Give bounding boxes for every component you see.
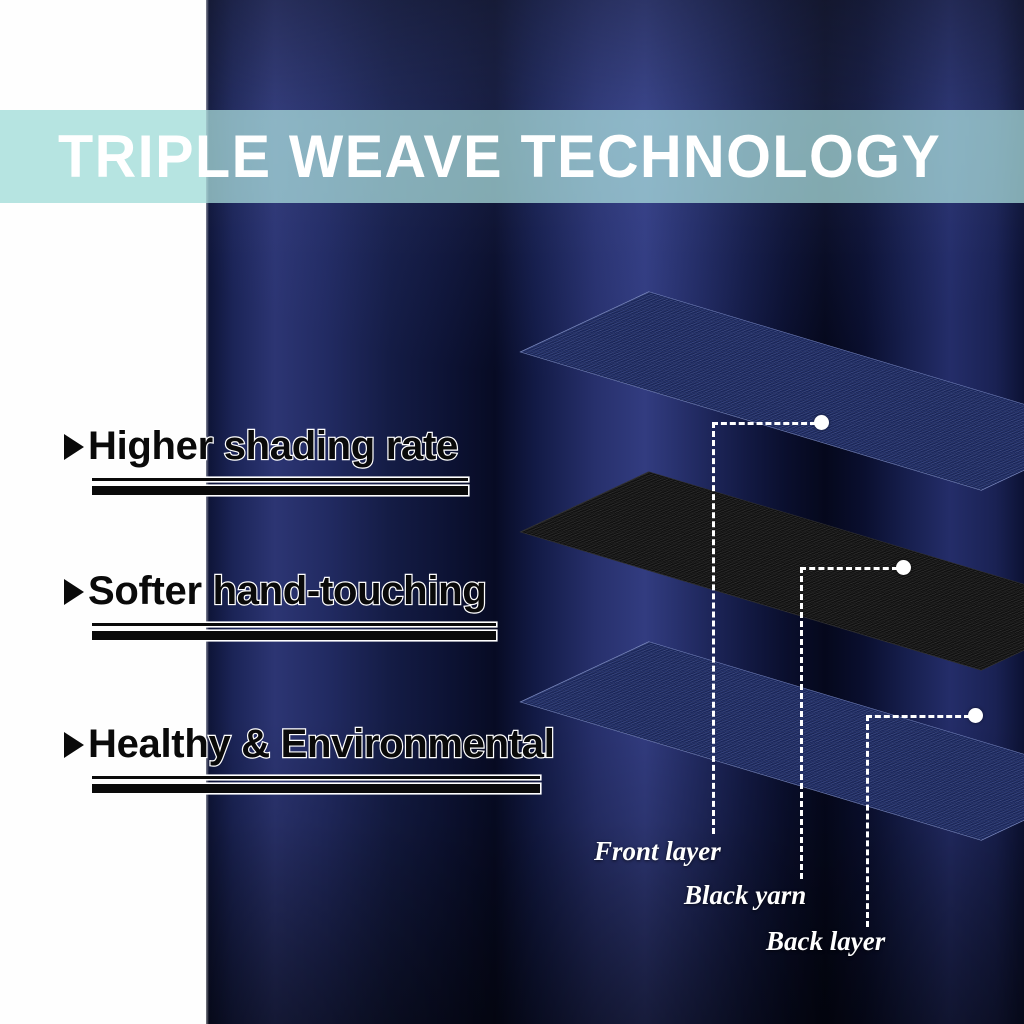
callout-dot-black-yarn <box>896 560 911 575</box>
layer-label-front: Front layer <box>594 836 721 867</box>
feature-3-label: Healthy & Environmental <box>88 722 555 767</box>
weave-texture <box>521 292 1024 490</box>
callout-dot-back-layer <box>968 708 983 723</box>
callout-line-black-yarn-vertical <box>800 567 803 879</box>
callout-line-back-layer-horizontal <box>866 715 970 718</box>
triangle-right-icon <box>64 434 84 460</box>
feature-3-rule-thick <box>92 784 540 793</box>
feature-1-row: Higher shading rate <box>64 424 468 469</box>
layer-label-black-yarn: Black yarn <box>684 880 806 911</box>
feature-2-underline <box>92 623 496 640</box>
feature-item-1: Higher shading rate <box>64 424 468 495</box>
triangle-right-icon <box>64 732 84 758</box>
feature-2-label: Softer hand-touching <box>88 569 486 614</box>
layer-label-back: Back layer <box>766 926 885 957</box>
product-infographic: TRIPLE WEAVE TECHNOLOGY Higher shading r… <box>0 0 1024 1024</box>
fabric-sheet-back-layer <box>519 641 1024 840</box>
feature-2-rule-thick <box>92 631 496 640</box>
callout-line-front-layer-horizontal <box>712 422 816 425</box>
feature-3-row: Healthy & Environmental <box>64 722 555 767</box>
fabric-layer-diagram <box>560 280 1024 880</box>
weave-texture <box>521 642 1024 840</box>
feature-2-row: Softer hand-touching <box>64 569 496 614</box>
callout-line-front-layer-vertical <box>712 422 715 834</box>
feature-1-label: Higher shading rate <box>88 424 458 469</box>
feature-1-rule-thick <box>92 486 468 495</box>
feature-1-underline <box>92 478 468 495</box>
triangle-right-icon <box>64 579 84 605</box>
fabric-sheet-front-layer <box>519 291 1024 490</box>
callout-line-back-layer-vertical <box>866 715 869 927</box>
feature-3-rule-thin <box>92 776 540 779</box>
fabric-sheet-black-yarn <box>519 471 1024 670</box>
banner-title: TRIPLE WEAVE TECHNOLOGY <box>58 110 970 203</box>
callout-line-black-yarn-horizontal <box>800 567 898 570</box>
feature-3-underline <box>92 776 555 793</box>
feature-item-2: Softer hand-touching <box>64 569 496 640</box>
feature-1-rule-thin <box>92 478 468 481</box>
callout-dot-front-layer <box>814 415 829 430</box>
weave-texture <box>521 472 1024 670</box>
feature-2-rule-thin <box>92 623 496 626</box>
feature-item-3: Healthy & Environmental <box>64 722 555 793</box>
title-banner: TRIPLE WEAVE TECHNOLOGY <box>0 110 1024 203</box>
